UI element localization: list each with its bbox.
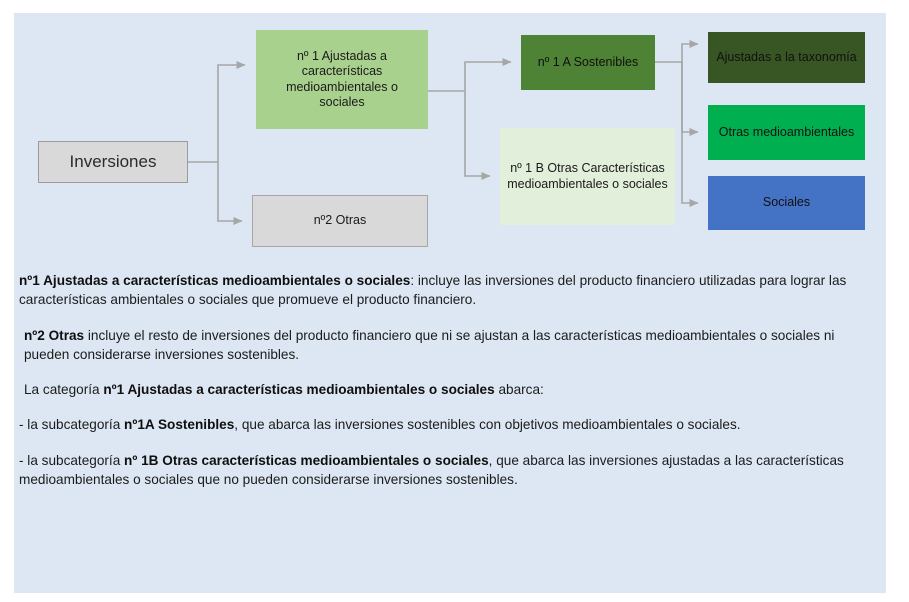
node-n1b-label: nº 1 B Otras Características medioambien… [506, 161, 669, 192]
paragraph-subcat-1b: - la subcategoría nº 1B Otras caracterís… [19, 451, 881, 490]
paragraph-subcat-1b-term: nº 1B Otras características medioambient… [124, 453, 489, 468]
paragraph-subcat-1a-term: nº1A Sostenibles [124, 417, 234, 432]
node-ajustadas-taxonomia[interactable]: Ajustadas a la taxonomía [708, 32, 865, 83]
node-inversiones-label: Inversiones [70, 152, 157, 173]
node-n1a-sostenibles[interactable]: nº 1 A Sostenibles [521, 35, 655, 90]
edge-inversiones-to-n2 [218, 162, 242, 221]
node-n1b-otras-caracteristicas[interactable]: nº 1 B Otras Características medioambien… [500, 128, 675, 225]
paragraph-subcat-1a-post: , que abarca las inversiones sostenibles… [234, 417, 740, 432]
edge-inversiones-to-n1 [218, 65, 245, 162]
edge-n1a-to-otras [682, 62, 698, 132]
paragraph-n2: nº2 Otras incluye el resto de inversione… [19, 326, 881, 365]
edge-n1a-to-sociales [682, 62, 698, 203]
node-n2-otras[interactable]: nº2 Otras [252, 195, 428, 247]
paragraph-n1-term: nº1 Ajustadas a características medioamb… [19, 273, 410, 288]
node-n1-label: nº 1 Ajustadas a características medioam… [262, 49, 422, 110]
paragraph-categoria-post: abarca: [495, 382, 544, 397]
edge-n1-to-n1b [465, 91, 490, 176]
node-sociales-label: Sociales [763, 195, 810, 210]
node-sociales[interactable]: Sociales [708, 176, 865, 230]
content-panel: Inversiones nº 1 Ajustadas a característ… [14, 13, 886, 593]
node-otras-medioambientales-label: Otras medioambientales [719, 125, 854, 140]
paragraph-categoria: La categoría nº1 Ajustadas a característ… [19, 380, 881, 399]
paragraph-subcat-1a-pre: - la subcategoría [19, 417, 124, 432]
explanatory-text: nº1 Ajustadas a características medioamb… [19, 271, 881, 489]
paragraph-categoria-pre: La categoría [24, 382, 103, 397]
paragraph-subcat-1b-pre: - la subcategoría [19, 453, 124, 468]
node-n1a-label: nº 1 A Sostenibles [538, 55, 638, 70]
node-inversiones[interactable]: Inversiones [38, 141, 188, 183]
node-otras-medioambientales[interactable]: Otras medioambientales [708, 105, 865, 160]
node-n2-label: nº2 Otras [314, 213, 367, 228]
investment-classification-diagram: Inversiones nº 1 Ajustadas a característ… [14, 13, 886, 263]
paragraph-subcat-1a: - la subcategoría nº1A Sostenibles, que … [19, 415, 881, 434]
paragraph-n1: nº1 Ajustadas a características medioamb… [19, 271, 881, 310]
edge-n1a-to-taxonomia [682, 44, 698, 62]
paragraph-n2-term: nº2 Otras [24, 328, 84, 343]
edge-n1-to-n1a [465, 62, 511, 91]
node-taxonomia-label: Ajustadas a la taxonomía [716, 50, 856, 65]
node-n1-ajustadas[interactable]: nº 1 Ajustadas a características medioam… [256, 30, 428, 129]
paragraph-categoria-term: nº1 Ajustadas a características medioamb… [103, 382, 494, 397]
paragraph-n2-body: incluye el resto de inversiones del prod… [24, 328, 834, 362]
page-root: Inversiones nº 1 Ajustadas a característ… [0, 0, 909, 602]
